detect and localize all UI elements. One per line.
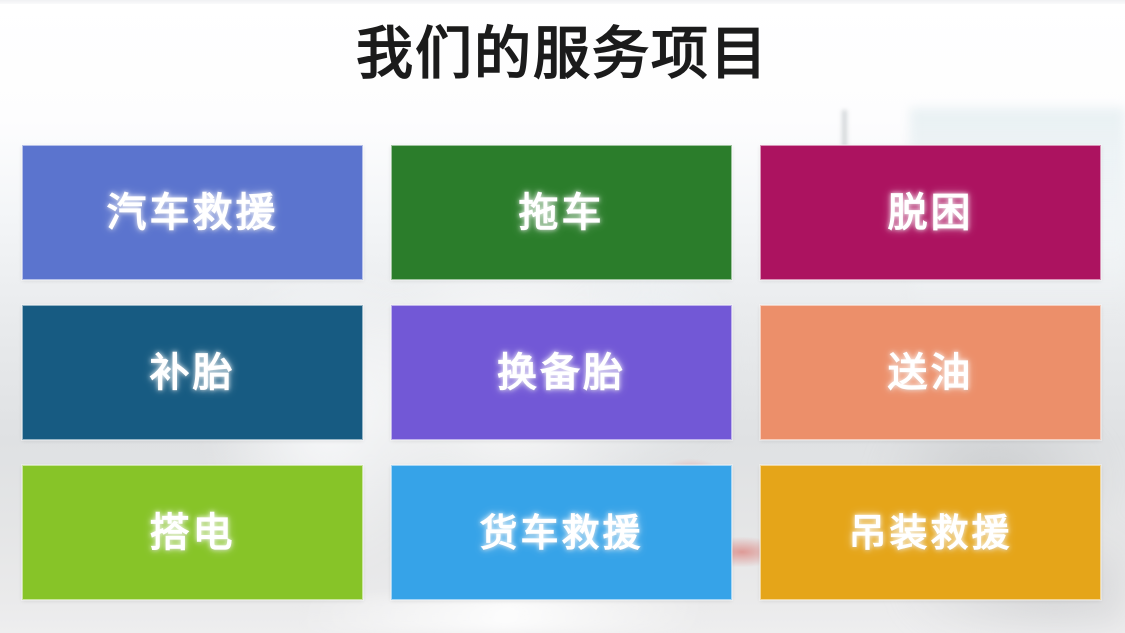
service-tile-label: 吊装救援 xyxy=(848,514,1012,552)
service-tile-label: 汽车救援 xyxy=(107,193,279,233)
service-tile-towing[interactable]: 拖车 xyxy=(391,145,732,280)
service-tile-label: 脱困 xyxy=(888,193,974,233)
service-tile-label: 补胎 xyxy=(150,353,236,393)
service-tile-label: 送油 xyxy=(888,353,974,393)
service-list-screen: 我们的服务项目 汽车救援 拖车 脱困 补胎 换备胎 送油 搭电 货车救援 吊装救… xyxy=(0,0,1125,633)
service-tile-tire-repair[interactable]: 补胎 xyxy=(22,305,363,440)
page-title: 我们的服务项目 xyxy=(0,22,1125,88)
service-tile-spare-tire-change[interactable]: 换备胎 xyxy=(391,305,732,440)
top-divider xyxy=(0,0,1125,4)
service-tile-truck-rescue[interactable]: 货车救援 xyxy=(391,465,732,600)
service-tile-label: 换备胎 xyxy=(497,353,626,393)
services-grid: 汽车救援 拖车 脱困 补胎 换备胎 送油 搭电 货车救援 吊装救援 xyxy=(22,145,1103,600)
service-tile-jump-start[interactable]: 搭电 xyxy=(22,465,363,600)
service-tile-fuel-delivery[interactable]: 送油 xyxy=(760,305,1101,440)
service-tile-extrication[interactable]: 脱困 xyxy=(760,145,1101,280)
service-tile-crane-rescue[interactable]: 吊装救援 xyxy=(760,465,1101,600)
service-tile-label: 货车救援 xyxy=(479,514,643,552)
service-tile-car-rescue[interactable]: 汽车救援 xyxy=(22,145,363,280)
background-road-line xyxy=(300,596,820,633)
service-tile-label: 搭电 xyxy=(150,513,236,553)
service-tile-label: 拖车 xyxy=(519,193,605,233)
